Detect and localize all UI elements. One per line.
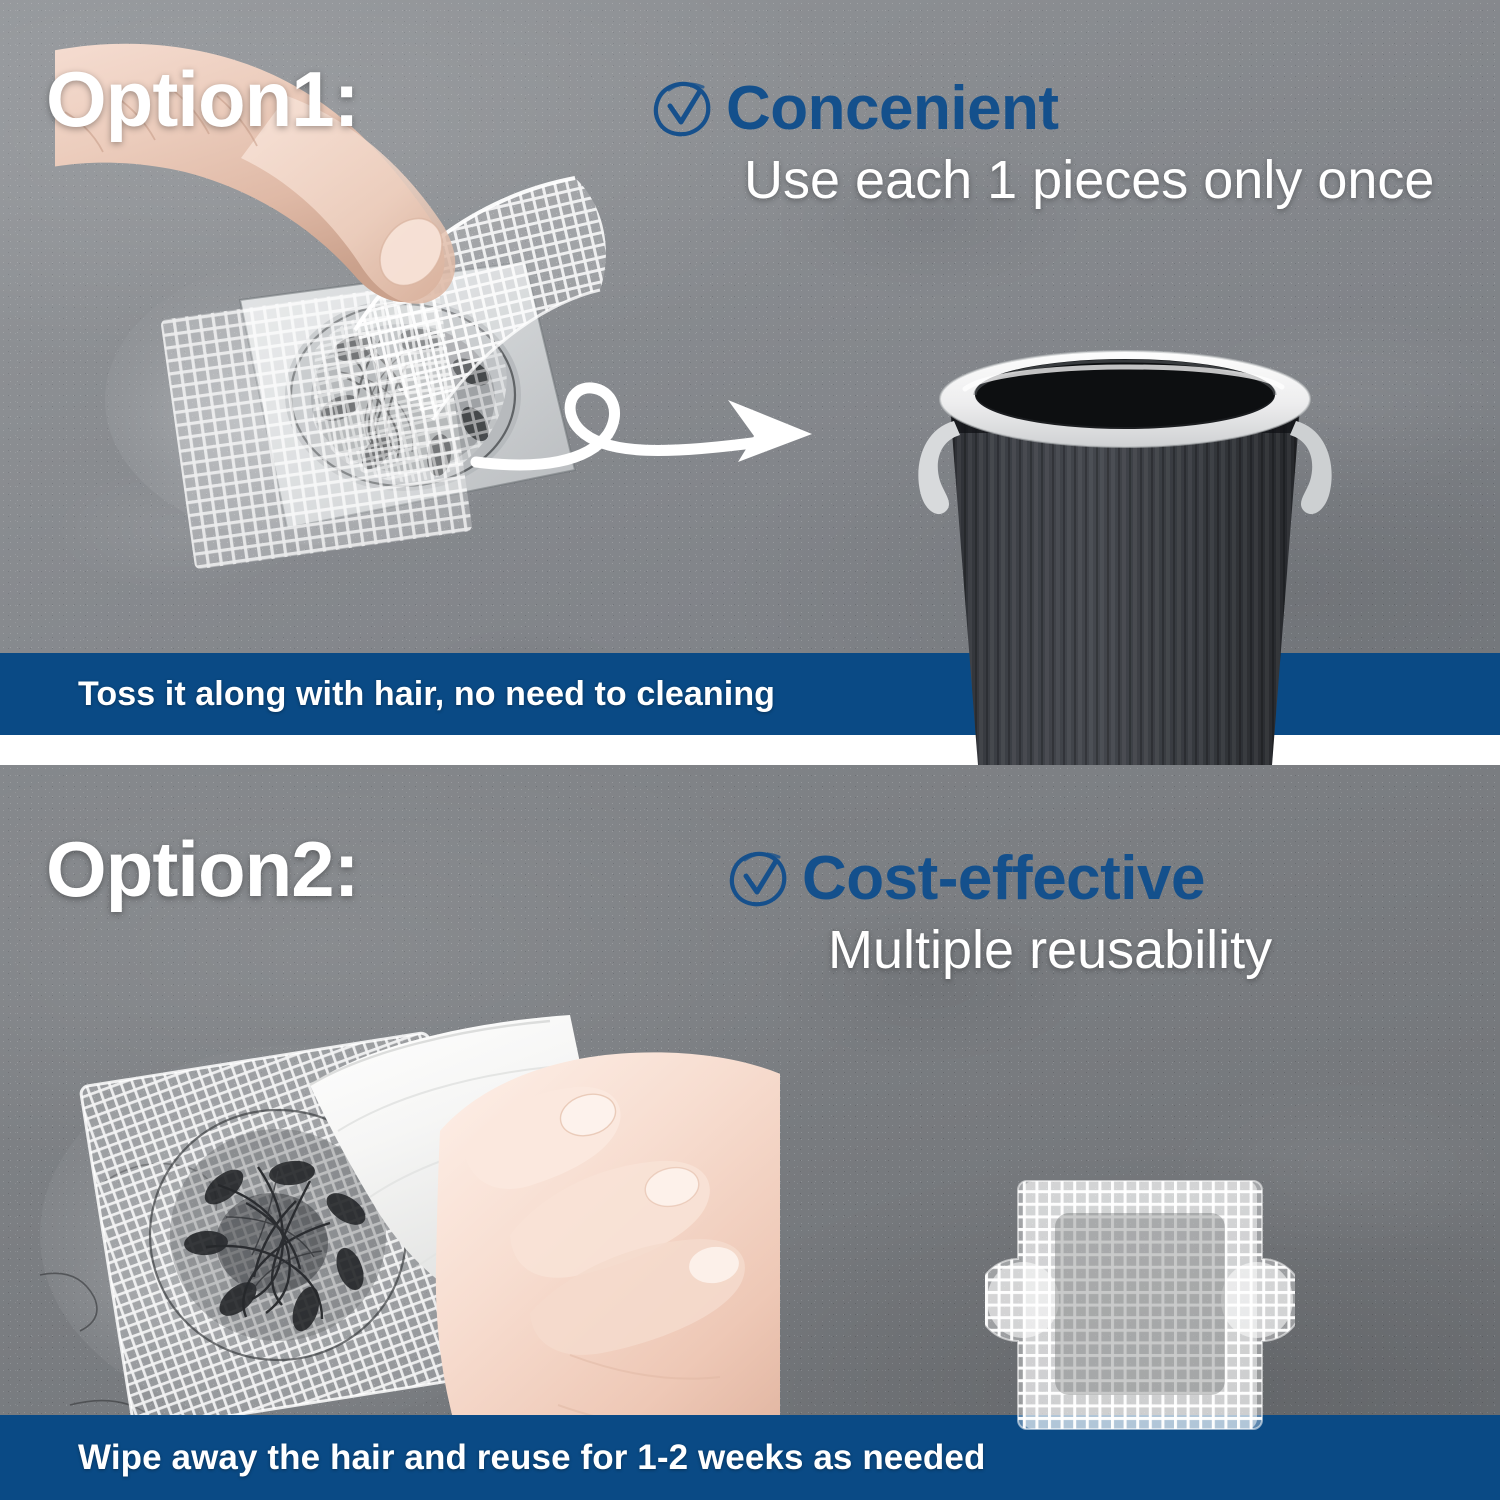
feature-cost-effective-title-row: Cost-effective	[728, 848, 1348, 910]
feature-convenient-title: Concenient	[726, 78, 1059, 140]
feature-cost-effective-title: Cost-effective	[802, 848, 1205, 910]
feature-convenient-title-row: Concenient	[652, 78, 1472, 140]
option-two-label: Option2:	[46, 830, 359, 908]
feature-cost-effective: Cost-effective Multiple reusability	[728, 848, 1348, 980]
option-one-label: Option1:	[46, 60, 359, 138]
check-circle-icon	[728, 848, 790, 910]
infographic-root: Option1: Concenient Use each 1 pieces on…	[0, 0, 1500, 1500]
mesh-filter-product-illustration	[985, 1165, 1295, 1450]
feature-cost-effective-subtitle: Multiple reusability	[828, 920, 1348, 980]
banner-option-two-text: Wipe away the hair and reuse for 1-2 wee…	[0, 1438, 985, 1478]
banner-option-one-text: Toss it along with hair, no need to clea…	[0, 675, 775, 714]
feature-convenient-subtitle: Use each 1 pieces only once	[744, 150, 1472, 210]
check-circle-icon	[652, 78, 714, 140]
trash-can-illustration	[880, 325, 1370, 765]
curly-arrow-icon	[470, 350, 890, 500]
photo-hand-wiping-mesh-with-tissue	[10, 935, 780, 1495]
feature-convenient: Concenient Use each 1 pieces only once	[652, 78, 1472, 210]
